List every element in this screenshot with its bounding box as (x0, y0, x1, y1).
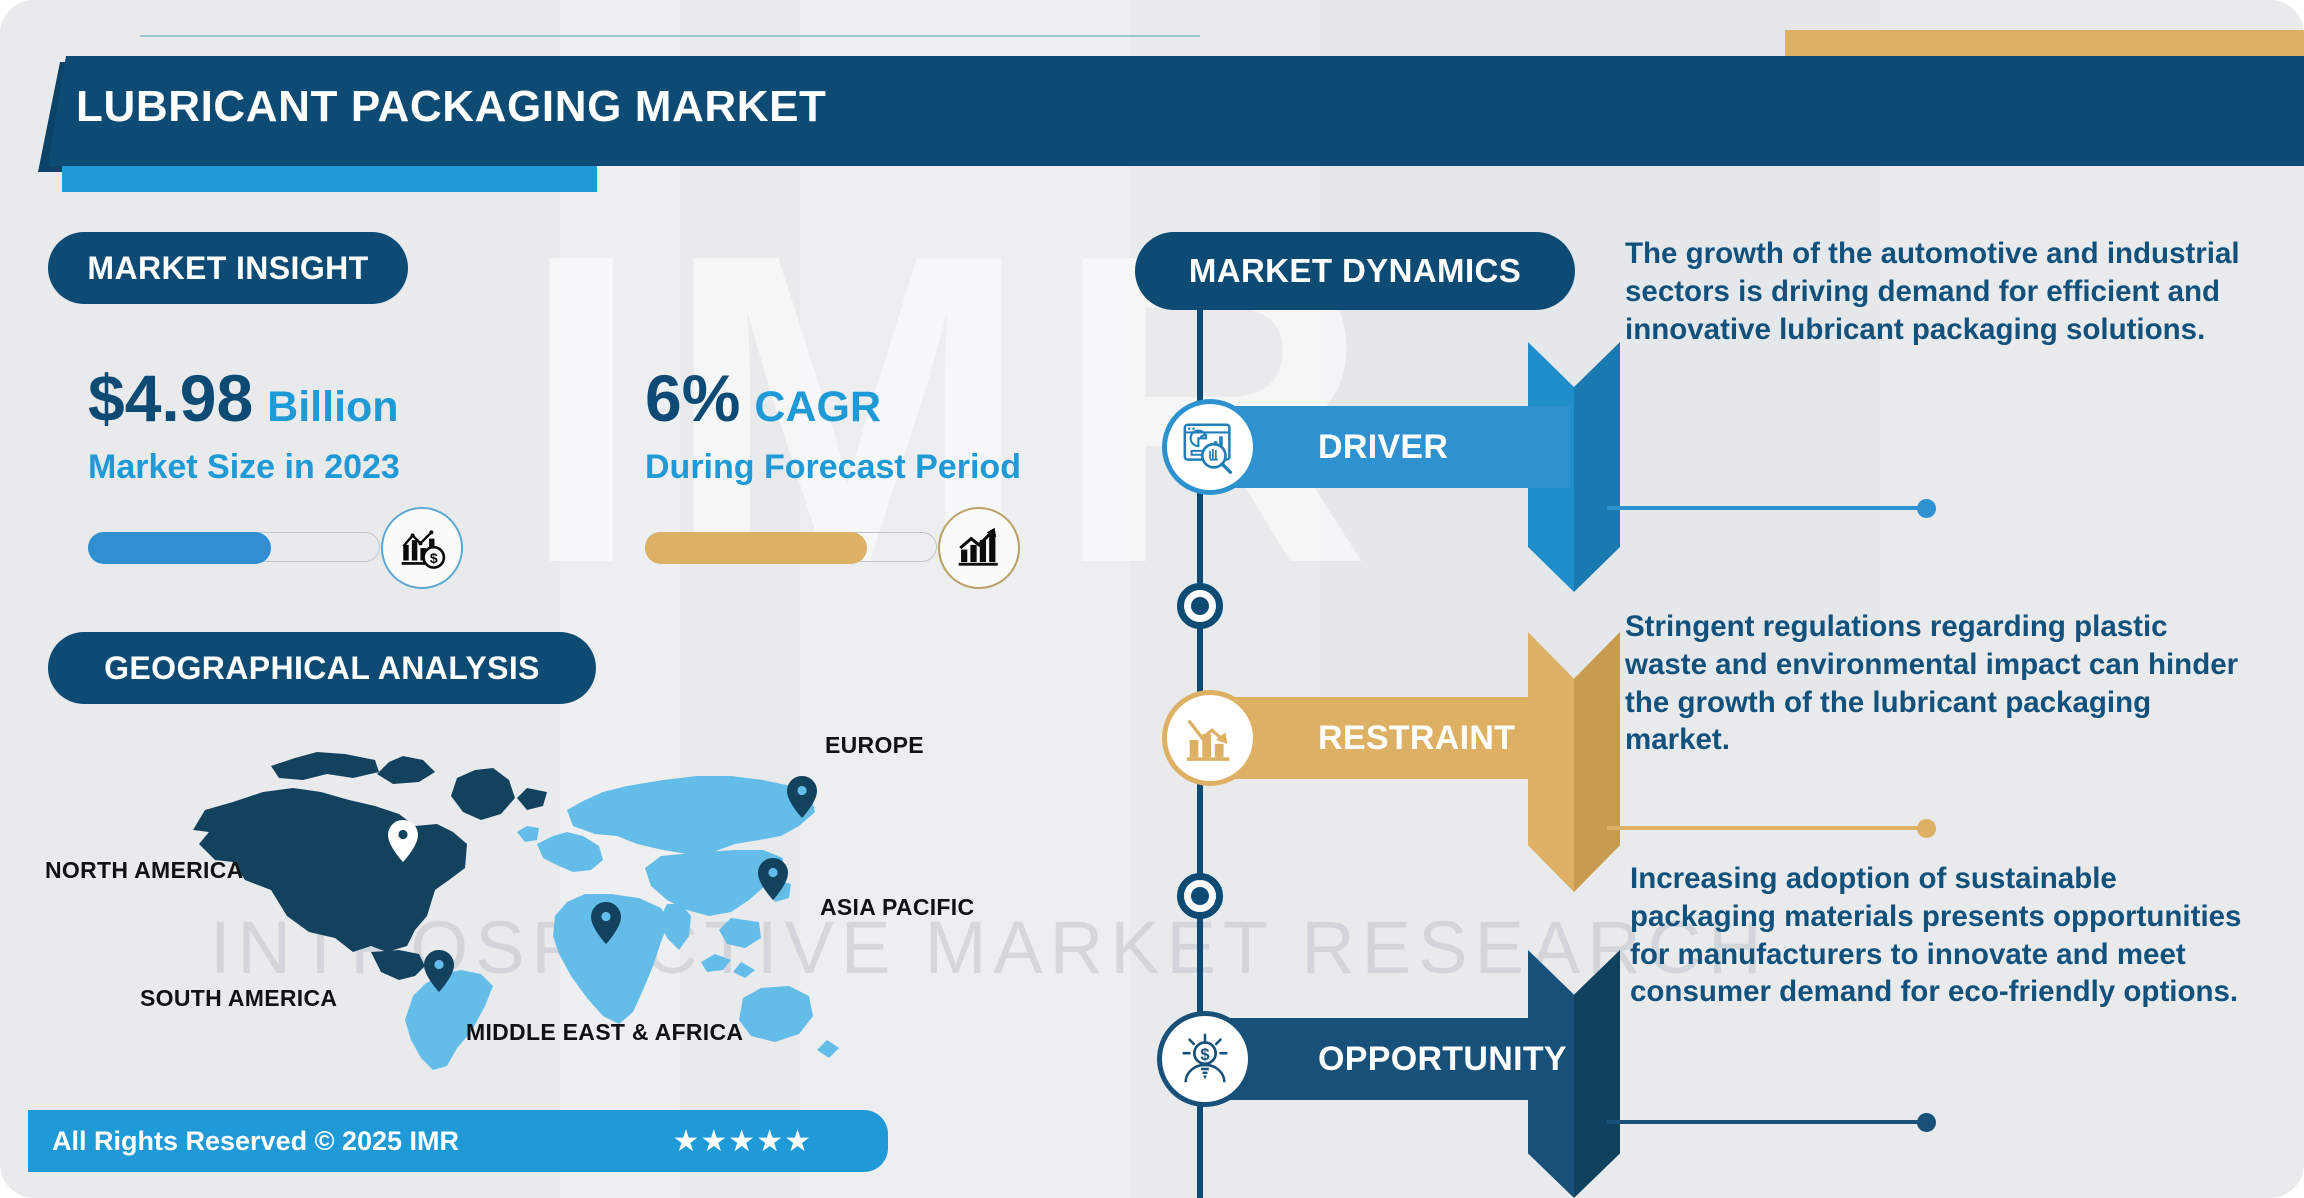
progress-fill (645, 532, 867, 564)
bar-chart-dollar-icon: $ (381, 507, 463, 589)
map-label-south-america: SOUTH AMERICA (140, 985, 337, 1012)
svg-text:$: $ (1200, 1046, 1209, 1064)
timeline-node (1177, 583, 1223, 629)
map-pin-middle-east-africa[interactable] (591, 902, 621, 949)
map-pin-north-america[interactable] (388, 820, 418, 867)
map-label-europe: EUROPE (825, 732, 924, 759)
declining-bar-chart-icon (1162, 690, 1258, 786)
progress-track-cagr (645, 532, 937, 562)
map-label-north-america: NORTH AMERICA (45, 857, 244, 884)
growth-arrow-chart-icon (938, 507, 1020, 589)
dynamics-label: RESTRAINT (1318, 719, 1515, 758)
kpi-cagr: 6%CAGR During Forecast Period (645, 360, 1021, 487)
kpi-caption: During Forecast Period (645, 448, 1021, 487)
progress-track-market-size: $ (88, 532, 380, 562)
kpi-value: 6% (645, 361, 740, 435)
svg-text:$: $ (430, 550, 438, 566)
dynamics-label: OPPORTUNITY (1318, 1040, 1567, 1079)
kpi-market-size: $4.98Billion Market Size in 2023 (88, 360, 400, 487)
section-pill-market-insight: MARKET INSIGHT (48, 232, 408, 304)
kpi-unit: Billion (267, 383, 398, 431)
dashboard-analysis-magnifier-icon (1162, 399, 1258, 495)
dynamics-underline-restraint (1607, 826, 1927, 830)
kpi-caption: Market Size in 2023 (88, 448, 400, 487)
header-hairline (140, 35, 1200, 37)
rating-stars: ★★★★★ (673, 1124, 812, 1159)
progress-fill (88, 532, 271, 564)
infographic-canvas: IMR INTROSPECTIVE MARKET RESEARCH LUBRIC… (0, 0, 2304, 1198)
dynamics-bar-opportunity[interactable]: OPPORTUNITY (1200, 1018, 1570, 1100)
map-pin-asia-pacific[interactable] (758, 858, 788, 905)
map-label-asia-pacific: ASIA PACIFIC (820, 894, 974, 921)
header-gold-accent (1785, 30, 2304, 58)
dynamics-label: DRIVER (1318, 428, 1448, 467)
section-pill-market-dynamics: MARKET DYNAMICS (1135, 232, 1575, 310)
copyright-text: All Rights Reserved © 2025 IMR (52, 1126, 459, 1157)
kpi-headline: $4.98Billion (88, 360, 400, 436)
dynamics-description-opportunity: Increasing adoption of sustainable packa… (1630, 860, 2250, 1011)
page-title: LUBRICANT PACKAGING MARKET (76, 82, 827, 132)
kpi-headline: 6%CAGR (645, 360, 1021, 436)
footer-bar: All Rights Reserved © 2025 IMR ★★★★★ (28, 1110, 888, 1172)
map-pin-south-america[interactable] (424, 950, 454, 997)
kpi-value: $4.98 (88, 361, 253, 435)
dynamics-description-restraint: Stringent regulations regarding plastic … (1625, 608, 2245, 759)
map-label-middle-east-africa: MIDDLE EAST & AFRICA (466, 1019, 743, 1046)
header-blue-strip (62, 166, 597, 192)
lightbulb-dollar-icon: $ (1157, 1011, 1253, 1107)
dynamics-underline-opportunity (1607, 1120, 1927, 1124)
kpi-unit: CAGR (754, 383, 881, 431)
map-pin-europe[interactable] (787, 776, 817, 823)
timeline-node (1177, 873, 1223, 919)
dynamics-underline-driver (1607, 506, 1927, 510)
dynamics-description-driver: The growth of the automotive and industr… (1625, 235, 2245, 348)
section-pill-geographical-analysis: GEOGRAPHICAL ANALYSIS (48, 632, 596, 704)
